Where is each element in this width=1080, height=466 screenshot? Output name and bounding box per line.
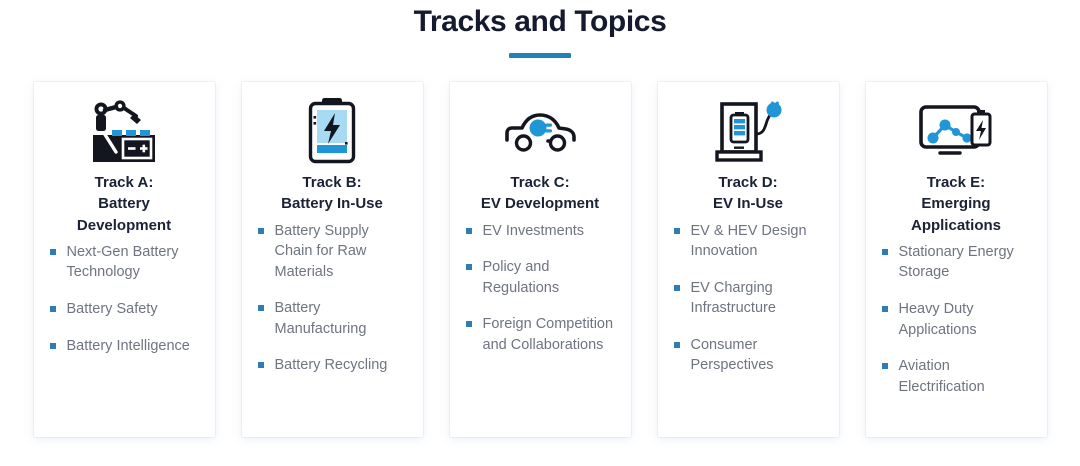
bullet-icon	[674, 285, 680, 291]
battery-charging-icon	[301, 96, 363, 168]
topic-label: Next-Gen Battery Technology	[67, 244, 179, 281]
monitor-chart-battery-icon	[916, 96, 996, 168]
list-item: EV Charging Infrastructure	[672, 278, 827, 319]
page-title: Tracks and Topics	[0, 4, 1080, 40]
track-card-d[interactable]: Track D: EV In-Use EV & HEV Design Innov…	[658, 82, 839, 437]
topic-label: EV Investments	[483, 223, 585, 239]
card-title-line: Battery In-Use	[281, 193, 383, 214]
list-item: Battery Manufacturing	[256, 298, 411, 339]
track-card-a-title: Track A: Battery Development	[77, 172, 171, 236]
bullet-icon	[466, 321, 472, 327]
card-title-line: Track D:	[713, 172, 783, 193]
track-card-e-title: Track E: Emerging Applications	[911, 172, 1001, 236]
card-title-line: Track C:	[481, 172, 599, 193]
card-title-line: Battery	[77, 193, 171, 214]
bullet-icon	[50, 343, 56, 349]
card-title-line: Applications	[911, 215, 1001, 236]
track-card-c-topics: EV Investments Policy and Regulations Fo…	[462, 221, 619, 356]
topic-label: Battery Supply Chain for Raw Materials	[275, 223, 369, 280]
bullet-icon	[466, 228, 472, 234]
track-card-c-title: Track C: EV Development	[481, 172, 599, 215]
track-card-e-topics: Stationary Energy Storage Heavy Duty App…	[878, 242, 1035, 397]
list-item: EV & HEV Design Innovation	[672, 221, 827, 262]
track-card-e[interactable]: Track E: Emerging Applications Stationar…	[866, 82, 1047, 437]
topic-label: Battery Recycling	[275, 357, 388, 373]
topic-label: Battery Intelligence	[67, 338, 190, 354]
robotic-arm-battery-icon	[85, 96, 163, 168]
topic-label: Foreign Competition and Collaborations	[483, 316, 614, 353]
bullet-icon	[882, 249, 888, 255]
list-item: Battery Recycling	[256, 355, 411, 376]
bullet-icon	[674, 342, 680, 348]
list-item: Policy and Regulations	[464, 257, 619, 298]
bullet-icon	[50, 306, 56, 312]
bullet-icon	[882, 363, 888, 369]
list-item: Battery Intelligence	[48, 336, 203, 357]
track-card-b-topics: Battery Supply Chain for Raw Materials B…	[254, 221, 411, 376]
electric-car-plug-icon	[500, 96, 580, 168]
track-card-a-topics: Next-Gen Battery Technology Battery Safe…	[46, 242, 203, 356]
topic-label: Policy and Regulations	[483, 259, 560, 296]
list-item: EV Investments	[464, 221, 619, 242]
card-title-line: EV Development	[481, 193, 599, 214]
card-title-line: Emerging	[911, 193, 1001, 214]
track-card-a[interactable]: Track A: Battery Development Next-Gen Ba…	[34, 82, 215, 437]
ev-charging-station-icon	[712, 96, 784, 168]
title-underline	[509, 53, 571, 58]
list-item: Foreign Competition and Collaborations	[464, 314, 619, 355]
card-title-line: Track B:	[281, 172, 383, 193]
list-item: Aviation Electrification	[880, 356, 1035, 397]
track-cards-row: Track A: Battery Development Next-Gen Ba…	[0, 82, 1080, 437]
bullet-icon	[466, 264, 472, 270]
topic-label: Aviation Electrification	[899, 358, 985, 395]
bullet-icon	[258, 228, 264, 234]
track-card-d-title: Track D: EV In-Use	[713, 172, 783, 215]
topic-label: Battery Safety	[67, 301, 158, 317]
list-item: Battery Safety	[48, 299, 203, 320]
bullet-icon	[674, 228, 680, 234]
bullet-icon	[258, 362, 264, 368]
track-card-c[interactable]: Track C: EV Development EV Investments P…	[450, 82, 631, 437]
bullet-icon	[258, 305, 264, 311]
topic-label: Consumer Perspectives	[691, 337, 774, 374]
topic-label: EV Charging Infrastructure	[691, 280, 776, 317]
card-title-line: Track E:	[911, 172, 1001, 193]
topic-label: Stationary Energy Storage	[899, 244, 1014, 281]
topic-label: EV & HEV Design Innovation	[691, 223, 807, 260]
bullet-icon	[882, 306, 888, 312]
track-card-d-topics: EV & HEV Design Innovation EV Charging I…	[670, 221, 827, 376]
list-item: Next-Gen Battery Technology	[48, 242, 203, 283]
card-title-line: EV In-Use	[713, 193, 783, 214]
track-card-b[interactable]: Track B: Battery In-Use Battery Supply C…	[242, 82, 423, 437]
bullet-icon	[50, 249, 56, 255]
page-header: Tracks and Topics	[0, 0, 1080, 58]
list-item: Consumer Perspectives	[672, 335, 827, 376]
list-item: Stationary Energy Storage	[880, 242, 1035, 283]
track-card-b-title: Track B: Battery In-Use	[281, 172, 383, 215]
card-title-line: Development	[77, 215, 171, 236]
list-item: Battery Supply Chain for Raw Materials	[256, 221, 411, 283]
topic-label: Battery Manufacturing	[275, 300, 367, 337]
card-title-line: Track A:	[77, 172, 171, 193]
topic-label: Heavy Duty Applications	[899, 301, 977, 338]
list-item: Heavy Duty Applications	[880, 299, 1035, 340]
